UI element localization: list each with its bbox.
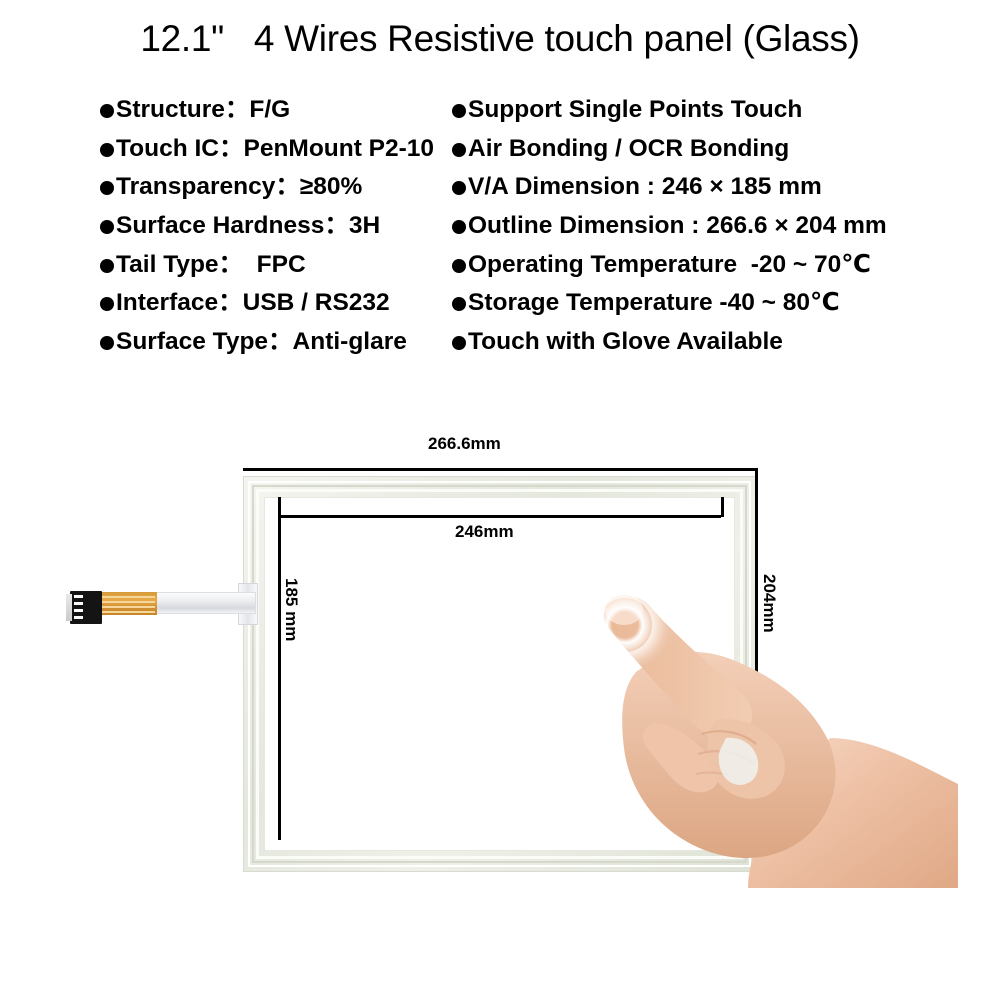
spec-item: Structure：F/G (100, 98, 460, 123)
page-title: 12.1" 4 Wires Resistive touch panel (Gla… (0, 18, 1000, 60)
hand-illustration (598, 588, 958, 888)
fingertip (605, 595, 643, 625)
spec-item-label: Air Bonding / OCR Bonding (468, 137, 789, 162)
spec-item: Transparency：≥80% (100, 175, 460, 200)
spec-item: V/A Dimension : 246 × 185 mm (452, 175, 922, 200)
spec-item-label: Tail Type： FPC (116, 253, 306, 278)
spec-item: Storage Temperature -40 ~ 80℃ (452, 291, 922, 316)
spec-item-label: V/A Dimension : 246 × 185 mm (468, 175, 822, 200)
connector-pin (74, 602, 83, 605)
spec-item-label: Outline Dimension : 266.6 × 204 mm (468, 214, 887, 239)
dimension-label-active-width: 246mm (455, 522, 514, 542)
fpc-trace (97, 611, 155, 613)
spec-item-label: Operating Temperature -20 ~ 70℃ (468, 253, 871, 278)
spec-item-label: Support Single Points Touch (468, 98, 802, 123)
bullet-icon (452, 336, 466, 350)
dimension-tick (721, 497, 724, 517)
spec-item: Surface Hardness：3H (100, 214, 460, 239)
fpc-trace (97, 601, 155, 603)
spec-item-label: Interface：USB / RS232 (116, 291, 390, 316)
spec-item-label: Storage Temperature -40 ~ 80℃ (468, 291, 840, 316)
dimension-label-outline-width: 266.6mm (428, 434, 501, 454)
fpc-tail-ribbon (152, 592, 256, 614)
bullet-icon (452, 259, 466, 273)
spec-item-label: Surface Type：Anti-glare (116, 330, 407, 355)
dimension-line-outline-width (243, 468, 756, 471)
spec-item: Operating Temperature -20 ~ 70℃ (452, 253, 922, 278)
bullet-icon (100, 220, 114, 234)
spec-item: Tail Type： FPC (100, 253, 460, 278)
spec-item-label: Touch with Glove Available (468, 330, 783, 355)
spec-item-label: Structure：F/G (116, 98, 290, 123)
spec-list-left: Structure：F/G Touch IC：PenMount P2-10 Tr… (100, 98, 460, 369)
connector-pin (74, 609, 83, 612)
bullet-icon (100, 336, 114, 350)
bullet-icon (100, 104, 114, 118)
connector-tip (66, 594, 72, 621)
dimension-line-active-height (278, 500, 281, 840)
dimension-label-active-height: 185 mm (281, 578, 301, 641)
bullet-icon (452, 104, 466, 118)
spec-item: Surface Type：Anti-glare (100, 330, 460, 355)
spec-item: Outline Dimension : 266.6 × 204 mm (452, 214, 922, 239)
connector-pin (74, 616, 83, 619)
bullet-icon (452, 297, 466, 311)
bullet-icon (452, 181, 466, 195)
connector-pin (74, 595, 83, 598)
fpc-trace (97, 606, 155, 608)
fpc-flex-section (95, 592, 157, 615)
spec-item: Support Single Points Touch (452, 98, 922, 123)
fpc-connector (70, 591, 102, 624)
spec-item: Interface：USB / RS232 (100, 291, 460, 316)
bullet-icon (452, 220, 466, 234)
spec-item-label: Surface Hardness：3H (116, 214, 380, 239)
spec-item: Air Bonding / OCR Bonding (452, 137, 922, 162)
spec-item-label: Transparency：≥80% (116, 175, 362, 200)
bullet-icon (100, 259, 114, 273)
spec-item: Touch IC：PenMount P2-10 (100, 137, 460, 162)
spec-item-label: Touch IC：PenMount P2-10 (116, 137, 434, 162)
fpc-trace (97, 596, 155, 598)
bullet-icon (100, 181, 114, 195)
spec-item: Touch with Glove Available (452, 330, 922, 355)
bullet-icon (100, 143, 114, 157)
bullet-icon (452, 143, 466, 157)
bullet-icon (100, 297, 114, 311)
spec-list-right: Support Single Points Touch Air Bonding … (452, 98, 922, 369)
dimension-line-active-width (278, 515, 721, 518)
